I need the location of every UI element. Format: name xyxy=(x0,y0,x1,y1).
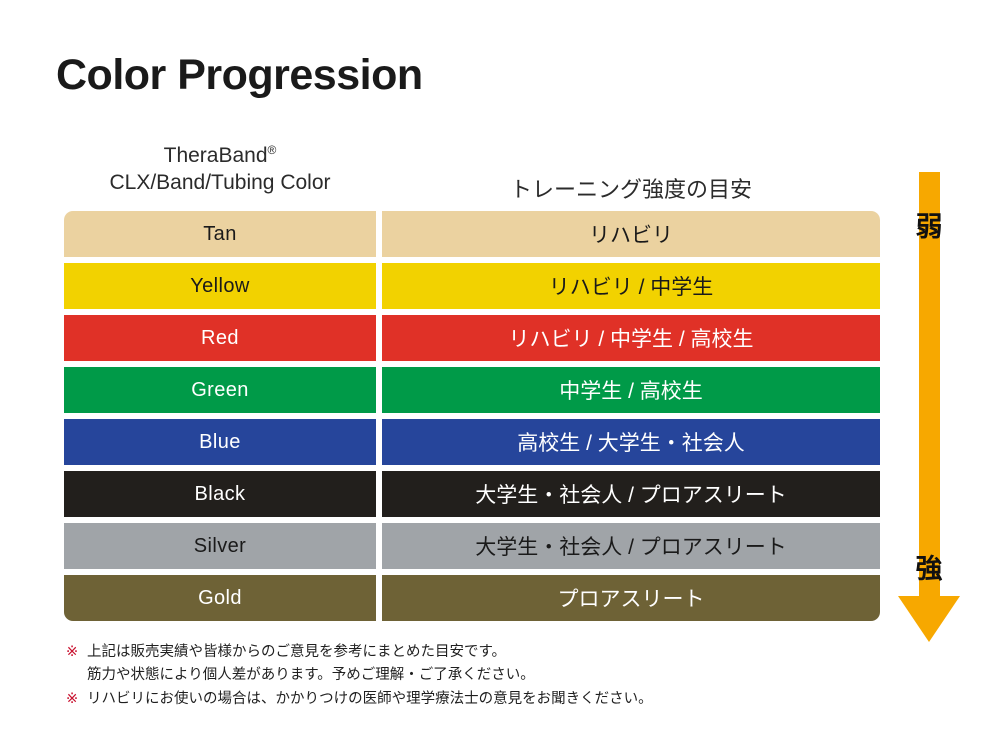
band-intensity-cell: 高校生 / 大学生・社会人 xyxy=(382,419,880,465)
footnote-1-line-1: 上記は販売実績や皆様からのご意見を参考にまとめた目安です。 xyxy=(87,644,506,660)
band-intensity-cell: 大学生・社会人 / プロアスリート xyxy=(382,471,880,517)
column-header-color-line1: TheraBand® xyxy=(64,142,376,169)
band-color-name-cell: Red xyxy=(64,315,376,361)
band-color-name-cell: Green xyxy=(64,367,376,413)
band-color-name-cell: Blue xyxy=(64,419,376,465)
reference-mark-icon: ※ xyxy=(66,641,78,664)
intensity-arrow: 弱 強 xyxy=(898,172,960,642)
footnote-2-text: リハビリにお使いの場合は、かかりつけの医師や理学療法士の意見をお聞きください。 xyxy=(87,691,653,707)
arrow-label-strong: 強 xyxy=(898,556,960,583)
band-color-name-cell: Black xyxy=(64,471,376,517)
reference-mark-icon: ※ xyxy=(66,688,78,711)
theraband-brand-text: TheraBand xyxy=(164,144,268,167)
band-intensity-cell: 中学生 / 高校生 xyxy=(382,367,880,413)
band-intensity-cell: プロアスリート xyxy=(382,575,880,621)
table-row: Silver大学生・社会人 / プロアスリート xyxy=(64,523,880,569)
footnote-1: ※ 上記は販売実績や皆様からのご意見を参考にまとめた目安です。 xyxy=(66,641,766,664)
table-row: Black大学生・社会人 / プロアスリート xyxy=(64,471,880,517)
arrow-label-weak: 弱 xyxy=(898,214,960,241)
table-row: Tanリハビリ xyxy=(64,211,880,257)
footnote-1-line-2: 筋力や状態により個人差があります。予めご理解・ご了承ください。 xyxy=(66,664,766,687)
band-color-name-cell: Tan xyxy=(64,211,376,257)
band-color-name-cell: Silver xyxy=(64,523,376,569)
footnotes: ※ 上記は販売実績や皆様からのご意見を参考にまとめた目安です。 筋力や状態により… xyxy=(66,641,766,711)
table-row: Yellowリハビリ / 中学生 xyxy=(64,263,880,309)
column-header-color-line2: CLX/Band/Tubing Color xyxy=(64,169,376,196)
footnote-2: ※ リハビリにお使いの場合は、かかりつけの医師や理学療法士の意見をお聞きください… xyxy=(66,688,766,711)
band-color-name-cell: Gold xyxy=(64,575,376,621)
band-intensity-cell: リハビリ / 中学生 xyxy=(382,263,880,309)
table-row: Green中学生 / 高校生 xyxy=(64,367,880,413)
table-row: Blue高校生 / 大学生・社会人 xyxy=(64,419,880,465)
registered-trademark-icon: ® xyxy=(268,143,277,157)
color-progression-table: TanリハビリYellowリハビリ / 中学生Redリハビリ / 中学生 / 高… xyxy=(64,211,880,621)
band-intensity-cell: リハビリ / 中学生 / 高校生 xyxy=(382,315,880,361)
band-color-name-cell: Yellow xyxy=(64,263,376,309)
arrow-head-icon xyxy=(898,596,960,642)
column-header-color: TheraBand® CLX/Band/Tubing Color xyxy=(64,142,376,197)
band-intensity-cell: リハビリ xyxy=(382,211,880,257)
table-row: Redリハビリ / 中学生 / 高校生 xyxy=(64,315,880,361)
column-header-intensity: トレーニング強度の目安 xyxy=(382,172,880,204)
page-title: Color Progression xyxy=(56,52,423,99)
table-header-row: TheraBand® CLX/Band/Tubing Color トレーニング強… xyxy=(64,142,880,208)
band-intensity-cell: 大学生・社会人 / プロアスリート xyxy=(382,523,880,569)
table-row: Goldプロアスリート xyxy=(64,575,880,621)
